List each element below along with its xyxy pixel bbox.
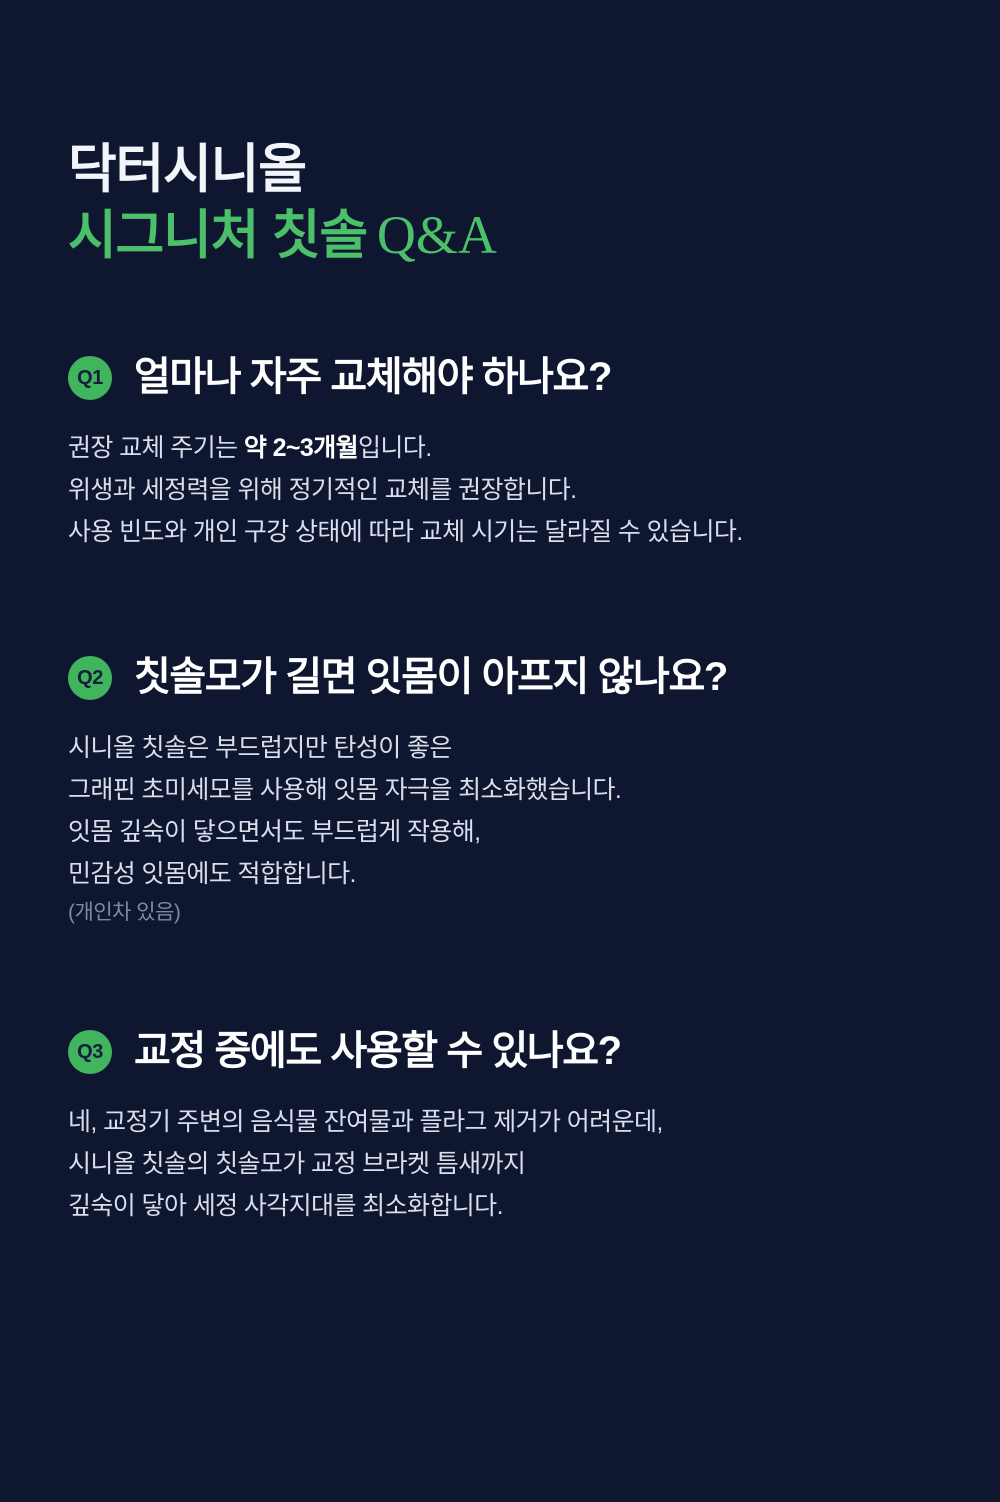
answer-text: 그래핀 초미세모를 사용해 잇몸 자극을 최소화했습니다. [68, 776, 621, 804]
question-number-badge: Q2 [68, 656, 112, 700]
answer-text: 민감성 잇몸에도 적합합니다. [68, 860, 356, 888]
faq-question-row[interactable]: Q3교정 중에도 사용할 수 있나요? [68, 1027, 940, 1075]
faq-question-text: 교정 중에도 사용할 수 있나요? [134, 1027, 621, 1075]
faq-page: 닥터시니올 시그니처 칫솔Q&A Q1얼마나 자주 교체해야 하나요?권장 교체… [0, 0, 1000, 1502]
faq-answer-line: 시니올 칫솔의 칫솔모가 교정 브라켓 틈새까지 [68, 1143, 940, 1185]
faq-answer-line: 시니올 칫솔은 부드럽지만 탄성이 좋은 [68, 727, 940, 769]
title-subject-row: 시그니처 칫솔Q&A [68, 203, 940, 269]
answer-text: 네, 교정기 주변의 음식물 잔여물과 플라그 제거가 어려운데, [68, 1108, 663, 1136]
faq-answer: 권장 교체 주기는 약 2~3개월입니다.위생과 세정력을 위해 정기적인 교체… [68, 427, 940, 553]
faq-answer-line: 그래핀 초미세모를 사용해 잇몸 자극을 최소화했습니다. [68, 769, 940, 811]
faq-item: Q2칫솔모가 길면 잇몸이 아프지 않나요?시니올 칫솔은 부드럽지만 탄성이 … [68, 653, 940, 929]
title-subject: 시그니처 칫솔 [68, 206, 367, 265]
faq-answer: 네, 교정기 주변의 음식물 잔여물과 플라그 제거가 어려운데,시니올 칫솔의… [68, 1101, 940, 1227]
answer-text: 시니올 칫솔은 부드럽지만 탄성이 좋은 [68, 734, 452, 762]
faq-answer-line: 사용 빈도와 개인 구강 상태에 따라 교체 시기는 달라질 수 있습니다. [68, 511, 940, 553]
answer-text: 사용 빈도와 개인 구강 상태에 따라 교체 시기는 달라질 수 있습니다. [68, 518, 743, 546]
faq-question-row[interactable]: Q1얼마나 자주 교체해야 하나요? [68, 353, 940, 401]
answer-text-tail: 입니다. [358, 434, 432, 462]
answer-text: 시니올 칫솔의 칫솔모가 교정 브라켓 틈새까지 [68, 1150, 525, 1178]
answer-text: 위생과 세정력을 위해 정기적인 교체를 권장합니다. [68, 476, 576, 504]
faq-answer-line: 깊숙이 닿아 세정 사각지대를 최소화합니다. [68, 1185, 940, 1227]
title-brand: 닥터시니올 [68, 138, 940, 203]
answer-text: 잇몸 깊숙이 닿으면서도 부드럽게 작용해, [68, 818, 481, 846]
faq-answer: 시니올 칫솔은 부드럽지만 탄성이 좋은그래핀 초미세모를 사용해 잇몸 자극을… [68, 727, 940, 929]
faq-item: Q3교정 중에도 사용할 수 있나요?네, 교정기 주변의 음식물 잔여물과 플… [68, 1027, 940, 1227]
faq-answer-line: 민감성 잇몸에도 적합합니다. [68, 853, 940, 895]
faq-question-text: 칫솔모가 길면 잇몸이 아프지 않나요? [134, 653, 727, 701]
faq-list: Q1얼마나 자주 교체해야 하나요?권장 교체 주기는 약 2~3개월입니다.위… [60, 353, 940, 1228]
title-qa-label: Q&A [367, 205, 497, 265]
question-number-badge: Q1 [68, 356, 112, 400]
question-number-badge: Q3 [68, 1030, 112, 1074]
faq-answer-line: 잇몸 깊숙이 닿으면서도 부드럽게 작용해, [68, 811, 940, 853]
answer-text: 권장 교체 주기는 [68, 434, 244, 462]
faq-question-row[interactable]: Q2칫솔모가 길면 잇몸이 아프지 않나요? [68, 653, 940, 701]
answer-highlight: 약 2~3개월 [244, 434, 358, 462]
page-title: 닥터시니올 시그니처 칫솔Q&A [60, 0, 940, 269]
faq-answer-line: 권장 교체 주기는 약 2~3개월입니다. [68, 427, 940, 469]
faq-answer-line: 위생과 세정력을 위해 정기적인 교체를 권장합니다. [68, 469, 940, 511]
faq-item: Q1얼마나 자주 교체해야 하나요?권장 교체 주기는 약 2~3개월입니다.위… [68, 353, 940, 553]
faq-answer-line: 네, 교정기 주변의 음식물 잔여물과 플라그 제거가 어려운데, [68, 1101, 940, 1143]
faq-answer-note: (개인차 있음) [68, 897, 940, 929]
faq-question-text: 얼마나 자주 교체해야 하나요? [134, 353, 611, 401]
answer-text: 깊숙이 닿아 세정 사각지대를 최소화합니다. [68, 1192, 503, 1220]
